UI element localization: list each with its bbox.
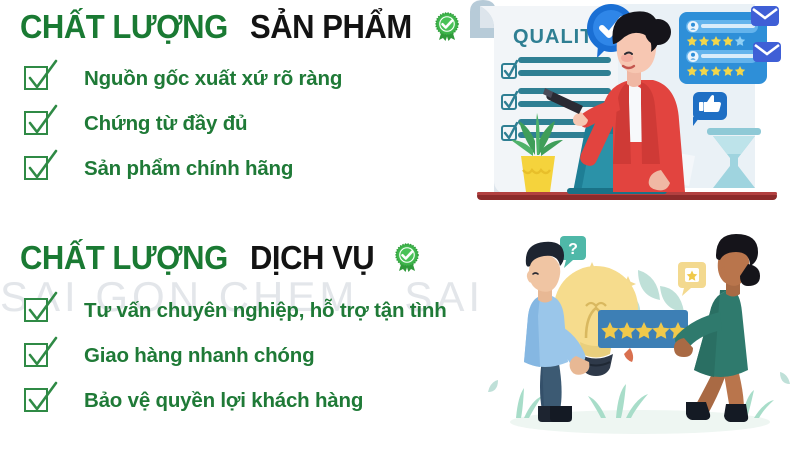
people-idea-rating-exchange-illustration: ?: [480, 230, 800, 450]
heading-green-text: CHẤT LƯỢNG: [20, 10, 228, 43]
checkbox-checked-icon[interactable]: [24, 66, 50, 92]
list-item-label: Bảo vệ quyền lợi khách hàng: [84, 389, 363, 413]
list-item[interactable]: Tư vấn chuyên nghiệp, hỗ trợ tận tình: [24, 288, 490, 333]
section-service-quality: CHẤT LƯỢNG DỊCH VỤ Tư v: [0, 225, 490, 450]
checkbox-checked-icon[interactable]: [24, 343, 50, 369]
list-item-label: Giao hàng nhanh chóng: [84, 344, 314, 368]
list-item[interactable]: Chứng từ đầy đủ: [24, 101, 470, 146]
list-item[interactable]: Nguồn gốc xuất xứ rõ ràng: [24, 56, 470, 101]
checkbox-checked-icon[interactable]: [24, 388, 50, 414]
svg-text:?: ?: [568, 241, 578, 258]
envelope-icon: [753, 42, 781, 62]
review-cards-group: [679, 6, 781, 84]
list-item-label: Tư vấn chuyên nghiệp, hỗ trợ tận tình: [84, 299, 447, 323]
list-item[interactable]: Giao hàng nhanh chóng: [24, 333, 490, 378]
product-quality-list: Nguồn gốc xuất xứ rõ ràng Chứng từ đầy đ…: [24, 56, 470, 191]
service-quality-list: Tư vấn chuyên nghiệp, hỗ trợ tận tình Gi…: [24, 288, 490, 423]
list-item-label: Chứng từ đầy đủ: [84, 112, 247, 136]
quality-checklist-woman-illustration: QUALITY: [455, 0, 800, 222]
list-item[interactable]: Bảo vệ quyền lợi khách hàng: [24, 378, 490, 423]
section-product-quality: CHẤT LƯỢNG SẢN PHẨM Ngu: [0, 0, 470, 225]
checkbox-checked-icon[interactable]: [24, 156, 50, 182]
award-ribbon-check-icon: [391, 242, 423, 274]
heading-green-text: CHẤT LƯỢNG: [20, 241, 228, 274]
award-ribbon-check-icon: [431, 11, 463, 43]
envelope-icon: [751, 6, 779, 26]
product-quality-heading: CHẤT LƯỢNG SẢN PHẨM: [20, 10, 470, 43]
list-item-label: Sản phẩm chính hãng: [84, 157, 293, 181]
checkbox-checked-icon[interactable]: [24, 298, 50, 324]
list-item[interactable]: Sản phẩm chính hãng: [24, 146, 470, 191]
list-item-label: Nguồn gốc xuất xứ rõ ràng: [84, 67, 342, 91]
heading-black-text: DỊCH VỤ: [250, 241, 374, 274]
infographic-page: SAI GON CHEM SAI GON CHEM SAI GON CHEM S…: [0, 0, 800, 450]
heading-black-text: SẢN PHẨM: [250, 10, 412, 43]
checkbox-checked-icon[interactable]: [24, 111, 50, 137]
service-quality-heading: CHẤT LƯỢNG DỊCH VỤ: [20, 241, 490, 274]
